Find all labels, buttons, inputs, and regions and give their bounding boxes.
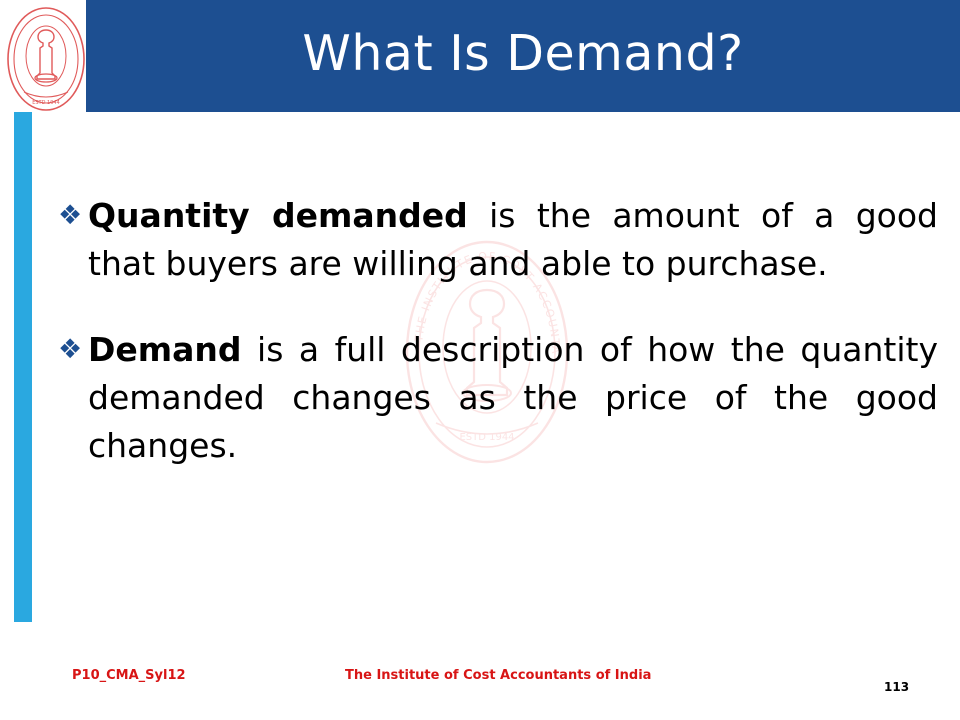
institute-logo-icon: ESTD 1944 xyxy=(4,4,88,114)
bullet-lead-term: Quantity demanded xyxy=(88,196,468,235)
footer-course-code: P10_CMA_Syl12 xyxy=(72,668,186,683)
svg-text:ESTD 1944: ESTD 1944 xyxy=(32,100,60,106)
footer-page-number: 113 xyxy=(884,680,909,694)
page-title: What Is Demand? xyxy=(86,0,960,112)
bullet-lead-term: Demand xyxy=(88,330,242,369)
bullet-item: ❖ Demand is a full description of how th… xyxy=(58,326,938,470)
bullet-text: Quantity demanded is the amount of a goo… xyxy=(88,192,938,288)
bullet-marker-icon: ❖ xyxy=(58,326,88,374)
slide-body: ❖ Quantity demanded is the amount of a g… xyxy=(58,192,938,508)
left-accent-bar xyxy=(14,112,32,622)
slide: What Is Demand? ESTD 1944 THE INSTITUTE … xyxy=(0,0,960,720)
footer-institute-name: The Institute of Cost Accountants of Ind… xyxy=(345,668,651,683)
bullet-item: ❖ Quantity demanded is the amount of a g… xyxy=(58,192,938,288)
bullet-marker-icon: ❖ xyxy=(58,192,88,240)
bullet-text: Demand is a full description of how the … xyxy=(88,326,938,470)
